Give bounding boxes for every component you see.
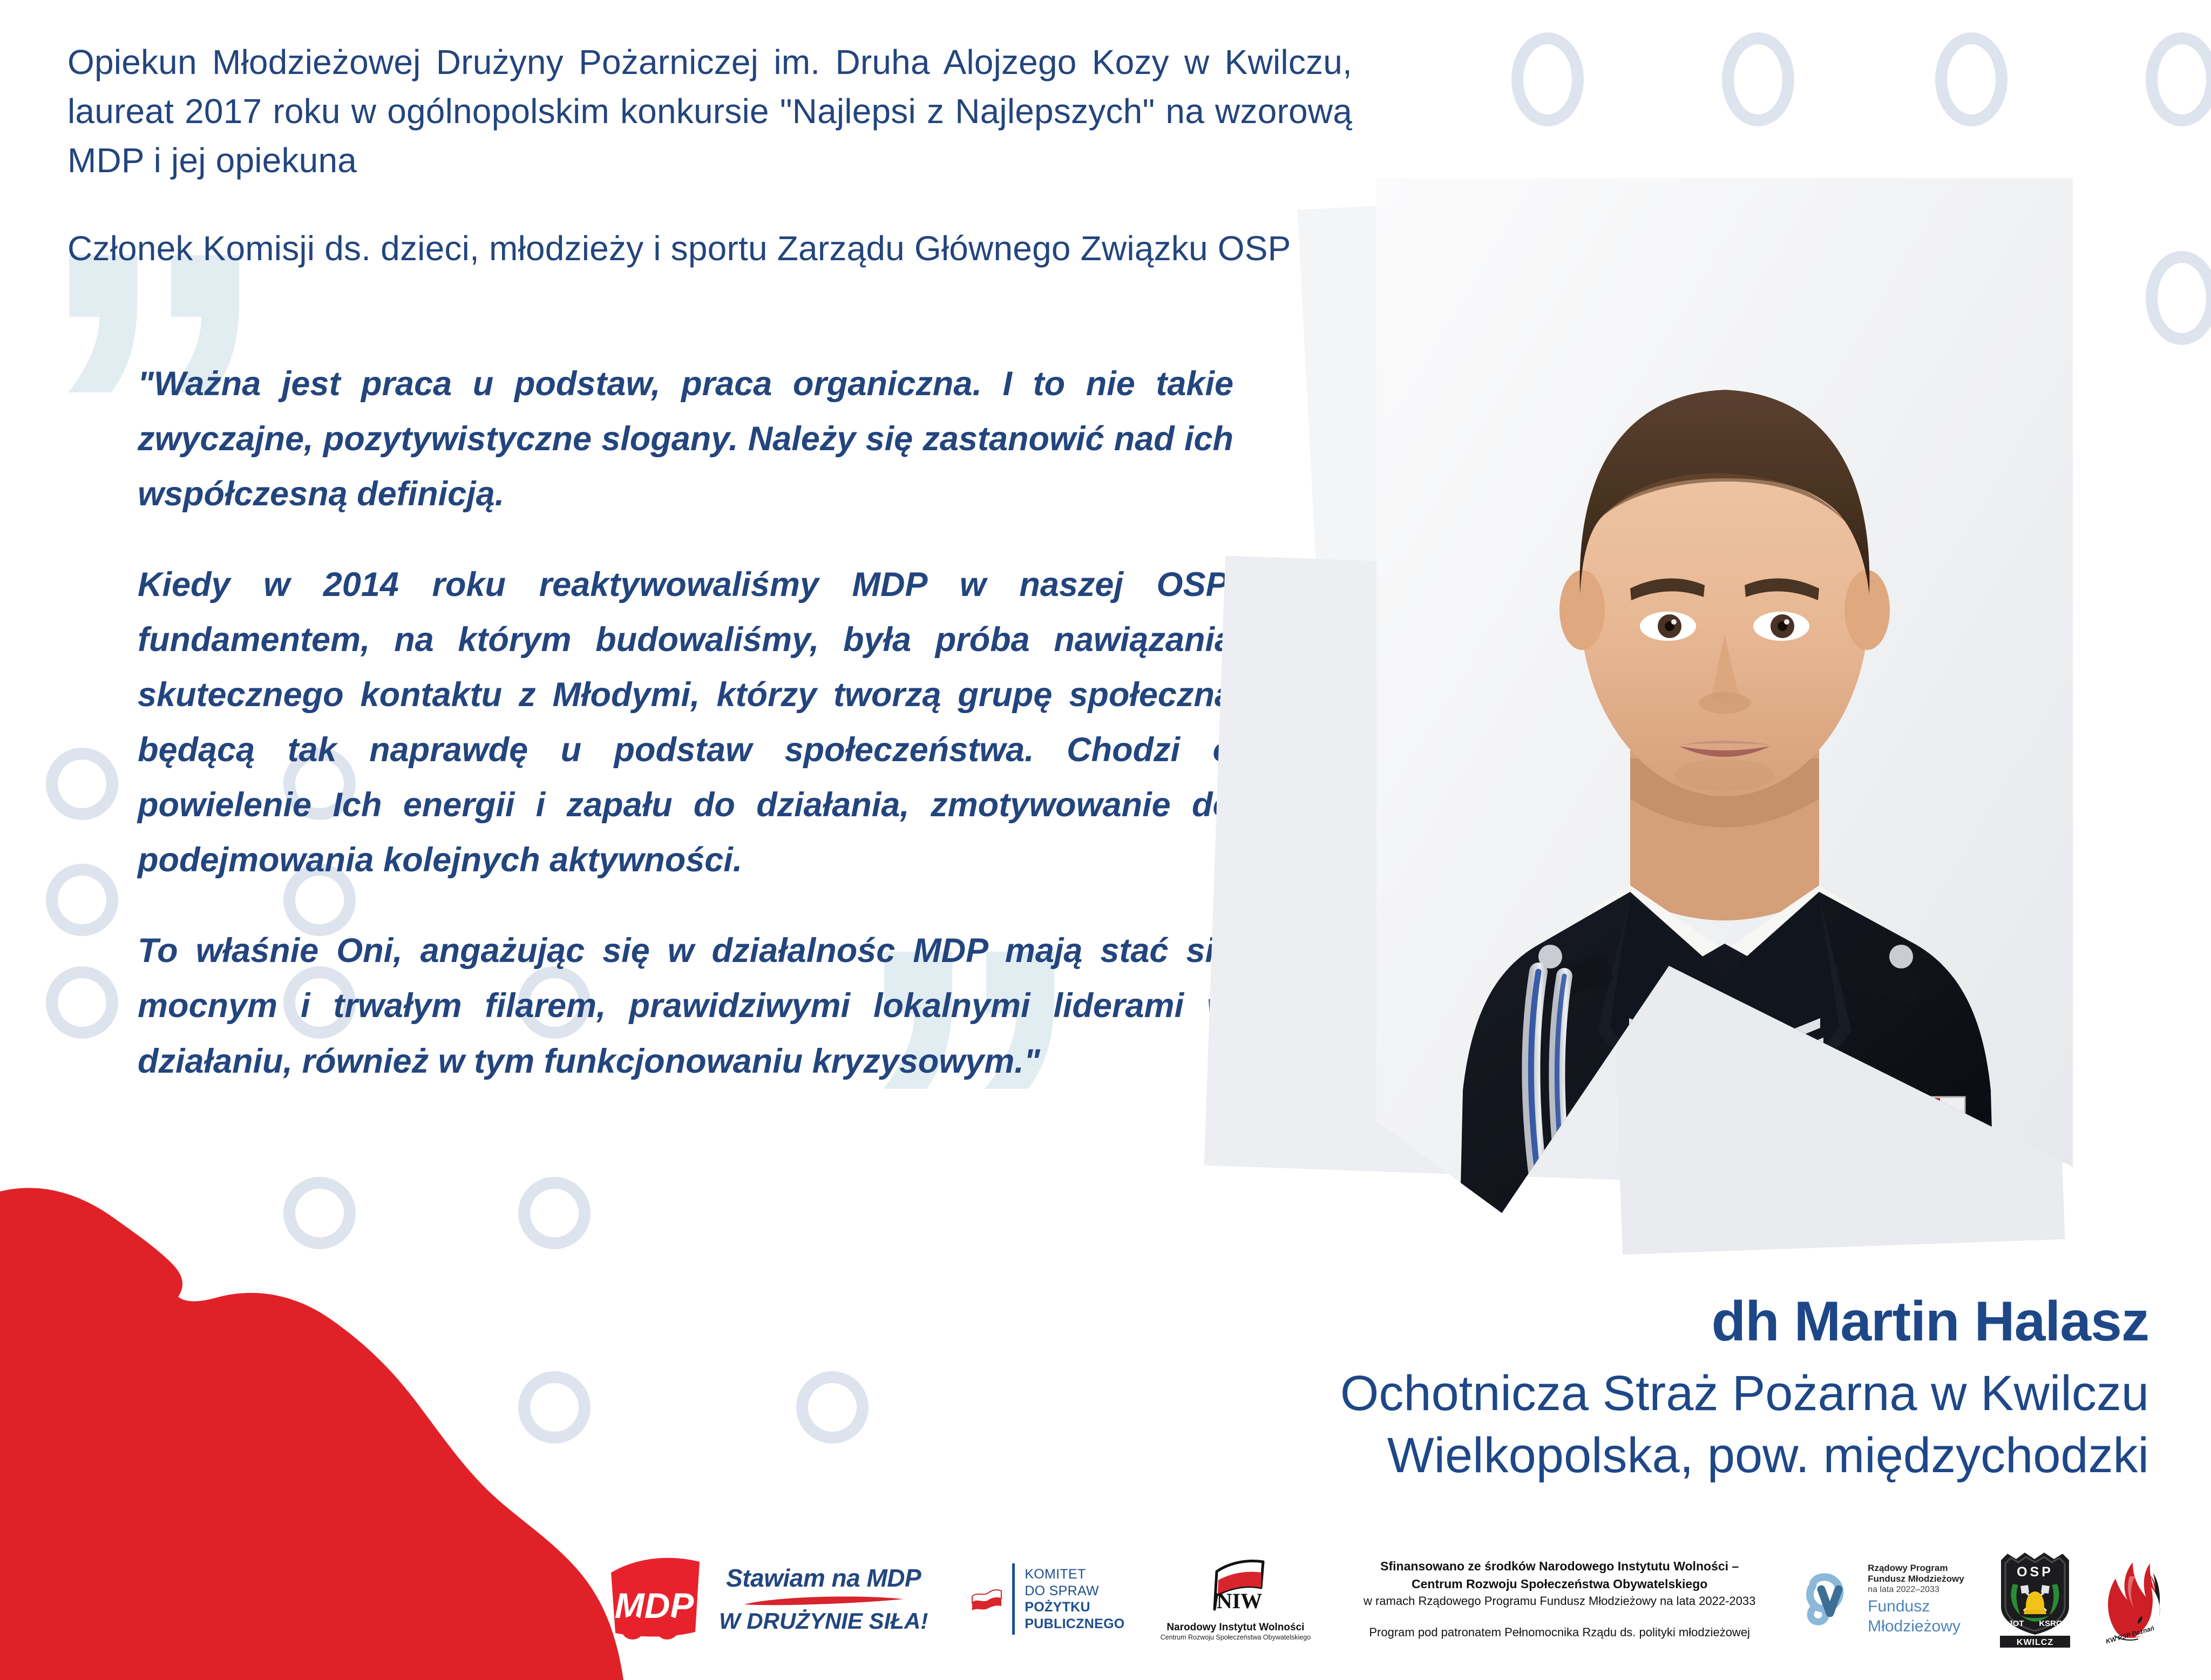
svg-text:JOT: JOT — [2008, 1619, 2024, 1628]
header-paragraph-1: Opiekun Młodzieżowej Drużyny Pożarniczej… — [67, 38, 1352, 185]
decorative-ring — [2146, 32, 2211, 126]
funding-bold-1: Sfinansowano ze środków Narodowego Insty… — [1346, 1557, 1773, 1575]
svg-text:OSP: OSP — [2017, 1564, 2053, 1580]
decorative-ring — [2146, 251, 2211, 345]
person-organization: Ochotnicza Straż Pożarna w Kwilczu — [1015, 1363, 2149, 1424]
logo-osp-kwilcz: OSP JOT KSRG KWILCZ — [1995, 1550, 2076, 1648]
header-paragraph-2: Członek Komisji ds. dzieci, młodzieży i … — [67, 224, 1352, 273]
logo-niw: NIW Narodowy Instytut Wolności Centrum R… — [1161, 1557, 1311, 1641]
fundusz-v-icon — [1803, 1571, 1859, 1627]
divider-bar — [1012, 1563, 1015, 1635]
svg-text:KSRG: KSRG — [2039, 1619, 2062, 1628]
quote-body: "Ważna jest praca u podstaw, praca organ… — [138, 356, 1233, 1089]
funding-normal-1: w ramach Rządowego Programu Fundusz Młod… — [1346, 1593, 1773, 1609]
funding-normal-2: Program pod patronatem Pełnomocnika Rząd… — [1346, 1624, 1773, 1641]
red-swoosh-icon — [743, 1595, 905, 1607]
logo-fundusz-mlodziezowy: Rządowy Program Fundusz Młodzieżowy na l… — [1803, 1563, 1964, 1636]
logo-kw-psp-poznan: KW PSP Poznań — [2097, 1555, 2178, 1644]
quote-paragraph-3: To właśnie Oni, angażując się w działaln… — [138, 923, 1233, 1088]
niw-mark-icon: NIW — [1204, 1557, 1267, 1618]
decorative-ring — [46, 864, 118, 936]
decorative-ring — [1722, 32, 1794, 126]
komitet-text: KOMITET DO SPRAW POŻYTKU PUBLICZNEGO — [1025, 1566, 1124, 1632]
niw-line-2: Centrum Rozwoju Społeczeństwa Obywatelsk… — [1161, 1634, 1311, 1641]
decorative-ring — [46, 748, 118, 820]
funding-statement: Sfinansowano ze środków Narodowego Insty… — [1311, 1557, 1773, 1641]
decorative-ring — [46, 966, 118, 1039]
fundusz-line-3: na lata 2022–2033 — [1868, 1584, 1964, 1595]
mdp-slogan-line-2: W DRUŻYNIE SIŁA! — [719, 1610, 928, 1632]
logo-komitet-pozytku-publicznego: KOMITET DO SPRAW POŻYTKU PUBLICZNEGO — [971, 1563, 1124, 1635]
person-identity-block: dh Martin Halasz Ochotnicza Straż Pożarn… — [1015, 1290, 2149, 1486]
funding-bold-2: Centrum Rozwoju Społeczeństwa Obywatelsk… — [1346, 1575, 1773, 1593]
person-name: dh Martin Halasz — [1015, 1290, 2149, 1353]
svg-text:NIW: NIW — [1217, 1589, 1262, 1613]
quote-paragraph-1: "Ważna jest praca u podstaw, praca organ… — [138, 356, 1233, 521]
komitet-line-4: PUBLICZNEGO — [1025, 1616, 1124, 1632]
svg-text:KWILCZ: KWILCZ — [2017, 1638, 2053, 1647]
komitet-line-2: DO SPRAW — [1025, 1583, 1124, 1600]
poster-canvas: ” ” Opiekun Młodzieżowej Drużyny Pożarni… — [0, 0, 2211, 1680]
footer-logo-strip: MDP Stawiam na MDP W DRUŻYNIE SIŁA! KOMI… — [0, 1518, 2211, 1680]
komitet-line-3: POŻYTKU — [1025, 1599, 1124, 1616]
decorative-ring — [1511, 32, 1584, 126]
logo-stawiam-na-mdp: MDP Stawiam na MDP W DRUŻYNIE SIŁA! — [605, 1552, 928, 1647]
decorative-ring — [796, 1371, 869, 1444]
quote-paragraph-2: Kiedy w 2014 roku reaktywowaliśmy MDP w … — [138, 557, 1233, 888]
komitet-line-1: KOMITET — [1025, 1566, 1124, 1583]
fundusz-line-2: Fundusz Młodzieżowy — [1868, 1574, 1964, 1584]
niw-line-1: Narodowy Instytut Wolności — [1166, 1622, 1304, 1634]
fundusz-line-5: Młodzieżowy — [1868, 1618, 1964, 1635]
person-region: Wielkopolska, pow. międzychodzki — [1015, 1425, 2149, 1486]
header-description: Opiekun Młodzieżowej Drużyny Pożarniczej… — [67, 38, 1352, 273]
fundusz-line-4: Fundusz — [1868, 1598, 1964, 1615]
mdp-slogan-line-1: Stawiam na MDP — [726, 1566, 921, 1590]
portrait-collage: MARTIN HALASZ X — [1204, 124, 2121, 1301]
polish-flag-icon — [971, 1586, 1002, 1613]
mdp-mark-icon: MDP — [605, 1552, 707, 1647]
fundusz-line-1: Rządowy Program — [1868, 1563, 1964, 1574]
decorative-ring — [1935, 32, 2007, 126]
